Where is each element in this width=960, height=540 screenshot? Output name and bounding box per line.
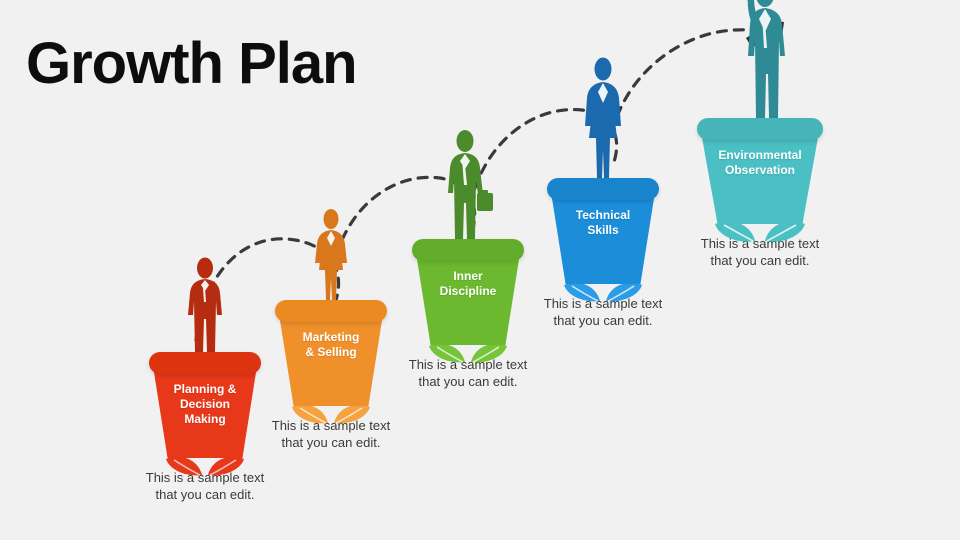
businesswoman-standing-icon [309, 208, 353, 300]
pot-label-line2: & Selling [283, 345, 379, 360]
businessman-briefcase-icon [439, 129, 497, 239]
pot-body: Inner Discipline [416, 253, 520, 345]
pot-rim [547, 178, 659, 200]
pot-body: Technical Skills [551, 192, 655, 284]
pot-rim [149, 352, 261, 374]
pot-marketing[interactable]: Marketing & Selling [275, 300, 387, 406]
pot-label-line2: Discipline [420, 284, 516, 299]
pot-label-line1: Environmental [704, 148, 816, 163]
pot-label: Marketing & Selling [283, 330, 379, 360]
pot-rim [275, 300, 387, 322]
pot-planning[interactable]: Planning & Decision Making [149, 352, 261, 458]
step-environmental-observation[interactable]: Environmental Observation This is a samp… [660, 118, 860, 269]
pot-environmental-observation[interactable]: Environmental Observation [697, 118, 823, 224]
pot-technical-skills[interactable]: Technical Skills [547, 178, 659, 284]
businessman-ok-gesture-icon [729, 0, 791, 118]
pot-rim [697, 118, 823, 140]
pot-label-line3: Making [157, 412, 253, 427]
pot-label-line2: Decision [157, 397, 253, 412]
pot-label-line1: Planning & [157, 382, 253, 397]
pot-inner-discipline[interactable]: Inner Discipline [412, 239, 524, 345]
pot-label-line2: Skills [555, 223, 651, 238]
pot-label-line1: Inner [420, 269, 516, 284]
pot-label-line2: Observation [704, 163, 816, 178]
pot-label: Technical Skills [555, 208, 651, 238]
page-title: Growth Plan [26, 30, 357, 97]
businesswoman-standing-icon [578, 56, 628, 178]
pot-label: Planning & Decision Making [157, 382, 253, 427]
pot-body: Environmental Observation [701, 132, 819, 224]
pot-label: Environmental Observation [704, 148, 816, 178]
pot-label: Inner Discipline [420, 269, 516, 299]
businessman-standing-icon [182, 257, 228, 352]
pot-body: Marketing & Selling [279, 314, 383, 406]
pot-rim [412, 239, 524, 261]
pot-label-line1: Technical [555, 208, 651, 223]
pot-body: Planning & Decision Making [153, 366, 257, 458]
slide-canvas: Growth Plan [0, 0, 960, 540]
pot-label-line1: Marketing [283, 330, 379, 345]
